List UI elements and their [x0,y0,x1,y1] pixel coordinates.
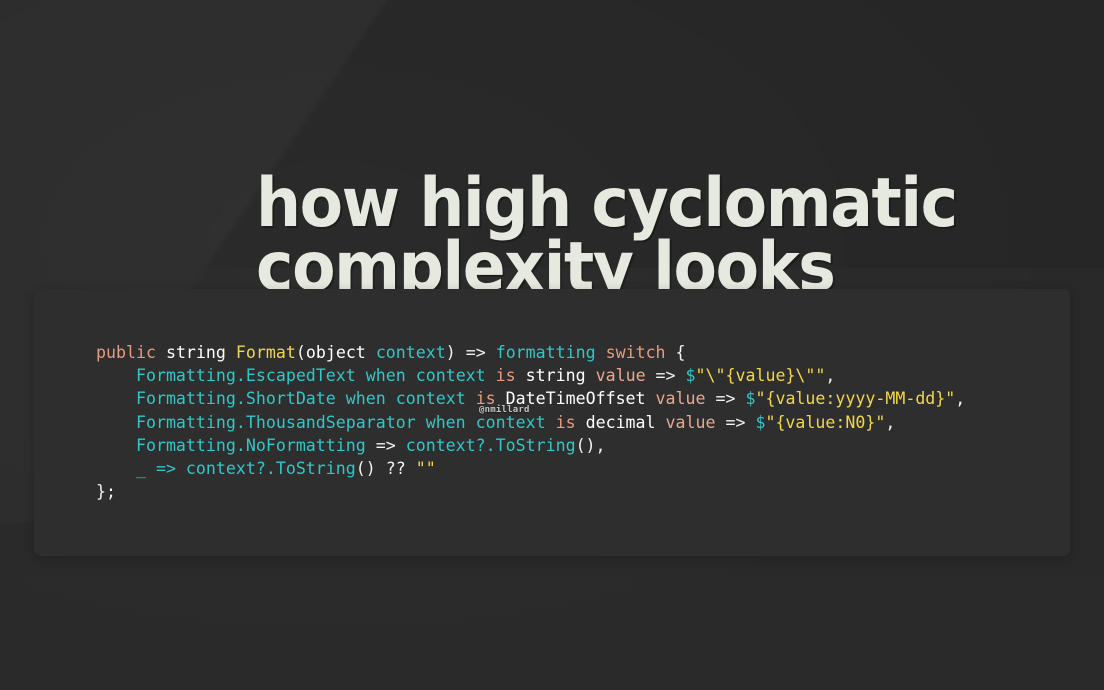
code-token [96,436,136,455]
code-token: is [476,389,496,408]
code-token: Format [236,343,296,362]
code-line: }; [96,480,965,503]
code-token: "\"{value}\"" [696,366,826,385]
code-token: context?.ToString [186,459,356,478]
code-token: context [376,343,446,362]
code-token: context?.ToString [406,436,576,455]
code-token: string [526,366,586,385]
code-line: Formatting.EscapedText when context is s… [96,364,965,387]
code-token [366,343,376,362]
code-token [406,366,416,385]
code-token [646,389,656,408]
code-token: , [825,366,835,385]
code-token [226,343,236,362]
code-token [576,413,586,432]
code-token [596,343,606,362]
code-token: _ => [136,459,186,478]
code-line: public string Format(object context) => … [96,341,965,364]
code-token: value [656,389,706,408]
code-token [466,413,476,432]
code-token: Formatting.NoFormatting [136,436,366,455]
code-token: when [346,389,386,408]
code-token [96,366,136,385]
code-token: , [955,389,965,408]
code-token: string [166,343,226,362]
code-token: context [396,389,466,408]
code-token: ( [296,343,306,362]
code-line: Formatting.ThousandSeparator when contex… [96,411,965,434]
code-token: $ [745,389,755,408]
code-line: _ => context?.ToString() ?? "" [96,457,965,480]
code-token: => [715,413,755,432]
code-token: { [666,343,686,362]
code-token: decimal [586,413,656,432]
code-token: context [416,366,486,385]
code-token [156,343,166,362]
code-token [336,389,346,408]
code-token: Formatting.EscapedText [136,366,356,385]
code-token: ) => [446,343,496,362]
code-token: formatting [496,343,596,362]
code-token: $ [686,366,696,385]
code-token [356,366,366,385]
code-token: Formatting.ThousandSeparator [136,413,416,432]
code-token: => [366,436,406,455]
code-token [486,366,496,385]
code-line: Formatting.ShortDate when context is Dat… [96,387,965,410]
code-token [96,459,136,478]
code-token: when [366,366,406,385]
code-token: "{value:yyyy-MM-dd}" [755,389,955,408]
code-token: => [646,366,686,385]
code-token: public [96,343,156,362]
code-token [386,389,396,408]
code-token: DateTimeOffset [506,389,646,408]
code-token [656,413,666,432]
code-token [96,389,136,408]
code-line: Formatting.NoFormatting => context?.ToSt… [96,434,965,457]
code-token: when [426,413,466,432]
code-token: () ?? [356,459,416,478]
code-token: is [556,413,576,432]
code-token [416,413,426,432]
code-token: (), [576,436,606,455]
code-token: context [476,413,546,432]
code-token: object [306,343,366,362]
code-token [496,389,506,408]
code-token: }; [96,482,116,501]
code-token [546,413,556,432]
slide-title: how high cyclomatic complexity looks [256,172,1019,300]
code-token: value [596,366,646,385]
background-band-bottom [0,578,1104,690]
code-snippet: public string Format(object context) => … [96,341,965,503]
code-token [516,366,526,385]
code-block-card: public string Format(object context) => … [34,289,1070,556]
code-token [466,389,476,408]
code-token [96,413,136,432]
code-token: "{value:N0}" [765,413,885,432]
code-token: value [666,413,716,432]
code-token: $ [755,413,765,432]
code-token: Formatting.ShortDate [136,389,336,408]
code-token: is [496,366,516,385]
code-token [586,366,596,385]
code-token: => [706,389,746,408]
slide-canvas: how high cyclomatic complexity looks pub… [0,0,1104,690]
code-token: "" [416,459,436,478]
code-token: , [885,413,895,432]
code-token: switch [606,343,666,362]
